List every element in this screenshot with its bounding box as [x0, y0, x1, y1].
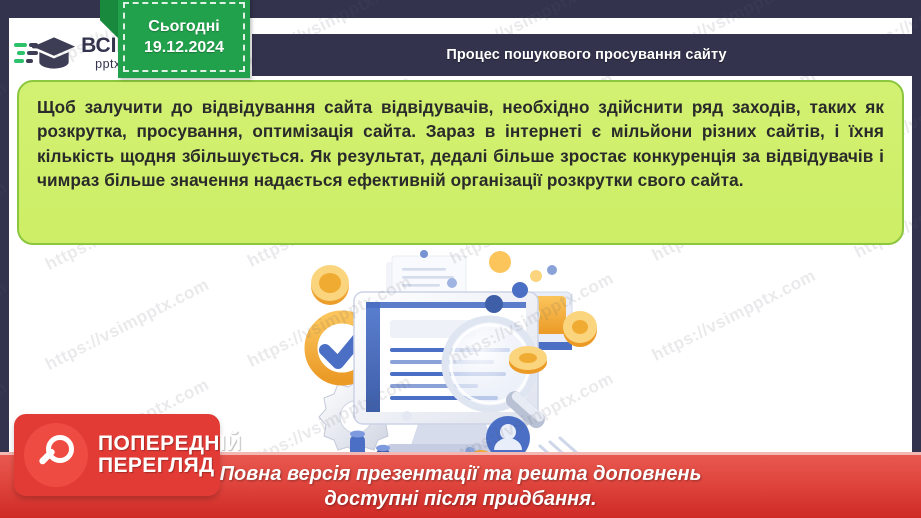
magnifier-icon: [24, 423, 88, 487]
speed-lines-icon: [14, 38, 30, 68]
date-tab-label: Сьогодні: [148, 16, 219, 37]
date-tab: Сьогодні 19.12.2024: [118, 0, 250, 78]
preview-badge-text: ПОПЕРЕДНІЙ ПЕРЕГЛЯД: [98, 433, 242, 476]
brand-logo[interactable]: ВСІМ pptx: [14, 30, 134, 76]
preview-badge[interactable]: ПОПЕРЕДНІЙ ПЕРЕГЛЯД: [14, 414, 220, 496]
banner-line-1: Повна версія презентації та решта доповн…: [220, 462, 702, 487]
preview-badge-line2: ПЕРЕГЛЯД: [98, 455, 242, 477]
slide-canvas: https://vsimpptx.comhttps://vsimpptx.com…: [0, 0, 921, 518]
page-title: Процес пошукового просування сайту: [446, 47, 726, 63]
graduation-cap-icon: [32, 34, 76, 72]
banner-line-2: доступні після придбання.: [324, 487, 596, 512]
seo-illustration: [290, 248, 640, 476]
content-text-box: Щоб залучити до відвідування сайта відві…: [17, 80, 904, 245]
date-tab-date: 19.12.2024: [144, 37, 224, 58]
preview-badge-line1: ПОПЕРЕДНІЙ: [98, 433, 242, 455]
body-paragraph: Щоб залучити до відвідування сайта відві…: [37, 95, 884, 193]
slide-title-bar: Процес пошукового просування сайту: [252, 34, 921, 76]
